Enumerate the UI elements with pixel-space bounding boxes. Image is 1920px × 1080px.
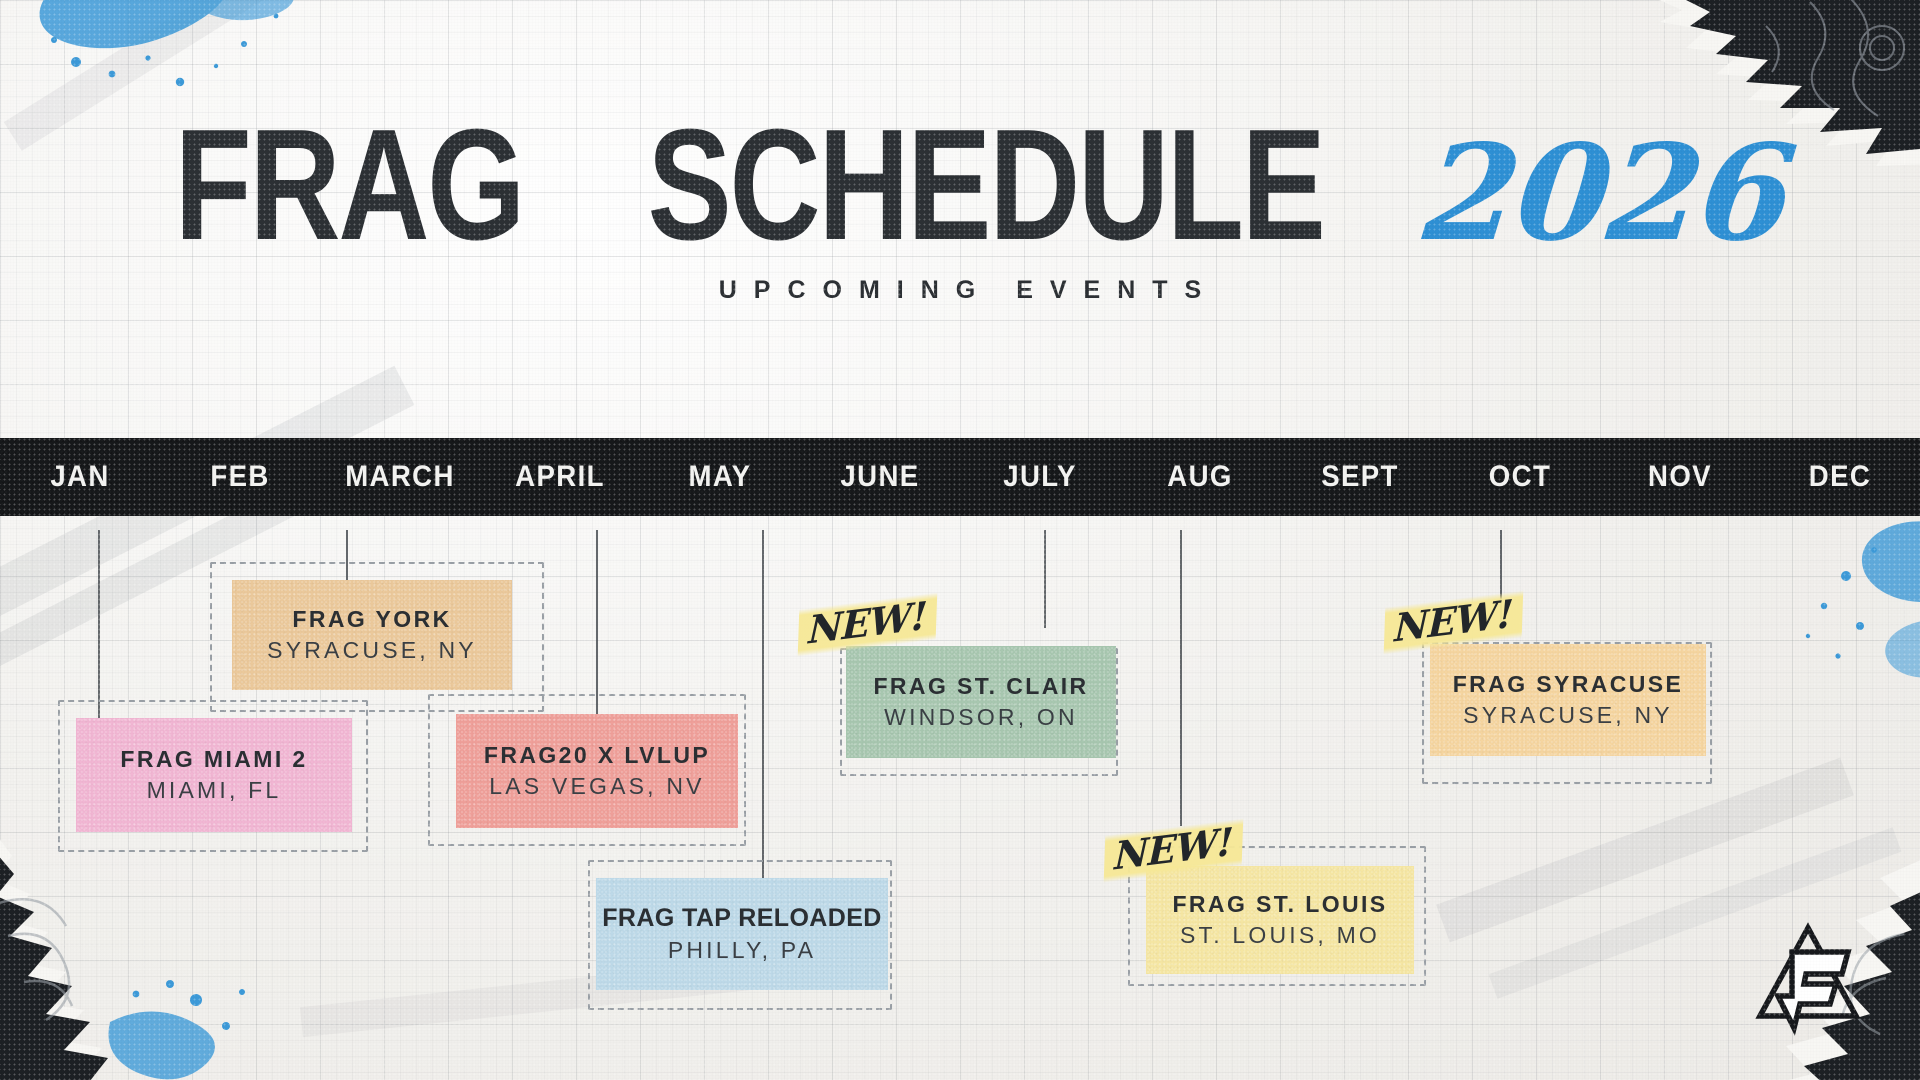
event-city: LAS VEGAS, NV [489,773,704,800]
event-name: FRAG ST. LOUIS [1172,891,1387,918]
event-name: FRAG20 X LVLUP [484,742,710,769]
poster-canvas: FRAG SCHEDULE 2026 UPCOMING EVENTS JAN F… [0,0,1920,1080]
page-subtitle: UPCOMING EVENTS [0,276,1920,305]
connector-line-tap [762,530,764,886]
title-word-schedule: SCHEDULE [647,118,1323,254]
connector-line-miami [98,530,100,720]
event-card-frag-syracuse[interactable]: FRAG SYRACUSE SYRACUSE, NY [1430,644,1706,756]
event-card-frag-st-clair[interactable]: FRAG ST. CLAIR WINDSOR, ON [846,646,1116,758]
event-card-frag-miami-2[interactable]: FRAG MIAMI 2 MIAMI, FL [76,718,352,832]
month-label-oct[interactable]: OCT [1446,460,1593,494]
event-city: MIAMI, FL [147,777,282,804]
month-label-nov[interactable]: NOV [1606,460,1753,494]
month-label-aug[interactable]: AUG [1126,460,1273,494]
month-label-june[interactable]: JUNE [806,460,953,494]
event-card-frag-tap-reloaded[interactable]: FRAG TAP RELOADED PHILLY, PA [596,878,888,990]
event-name: FRAG YORK [292,606,451,633]
event-city: SYRACUSE, NY [1463,702,1673,729]
event-name: FRAG MIAMI 2 [120,746,307,773]
event-card-frag-st-louis[interactable]: FRAG ST. LOUIS ST. LOUIS, MO [1146,866,1414,974]
event-name: FRAG ST. CLAIR [873,673,1088,700]
month-timeline-bar: JAN FEB MARCH APRIL MAY JUNE JULY AUG SE… [0,438,1920,516]
events-timeline: FRAG YORK SYRACUSE, NY FRAG MIAMI 2 MIAM… [0,516,1920,1080]
event-city: PHILLY, PA [668,937,816,964]
page-title: FRAG SCHEDULE 2026 [0,118,1920,254]
event-card-frag20-x-lvlup[interactable]: FRAG20 X LVLUP LAS VEGAS, NV [456,714,738,828]
event-city: WINDSOR, ON [884,704,1078,731]
month-label-march[interactable]: MARCH [326,460,473,494]
connector-line-stclair [1044,530,1046,628]
title-word-frag: FRAG [175,118,524,254]
connector-line-lvlup [596,530,598,720]
event-name: FRAG TAP RELOADED [602,904,882,933]
event-card-frag-york[interactable]: FRAG YORK SYRACUSE, NY [232,580,512,690]
month-label-july[interactable]: JULY [966,460,1113,494]
month-label-april[interactable]: APRIL [486,460,633,494]
poster-header: FRAG SCHEDULE 2026 UPCOMING EVENTS [0,118,1920,305]
month-label-feb[interactable]: FEB [166,460,313,494]
month-label-may[interactable]: MAY [646,460,793,494]
event-city: SYRACUSE, NY [267,637,477,664]
event-city: ST. LOUIS, MO [1180,922,1380,949]
month-label-dec[interactable]: DEC [1766,460,1913,494]
connector-line-stlouis [1180,530,1182,826]
event-name: FRAG SYRACUSE [1453,671,1684,698]
month-label-sept[interactable]: SEPT [1286,460,1433,494]
frag-logo-icon [1748,916,1868,1036]
title-year: 2026 [1420,137,1799,251]
month-label-jan[interactable]: JAN [6,460,153,494]
